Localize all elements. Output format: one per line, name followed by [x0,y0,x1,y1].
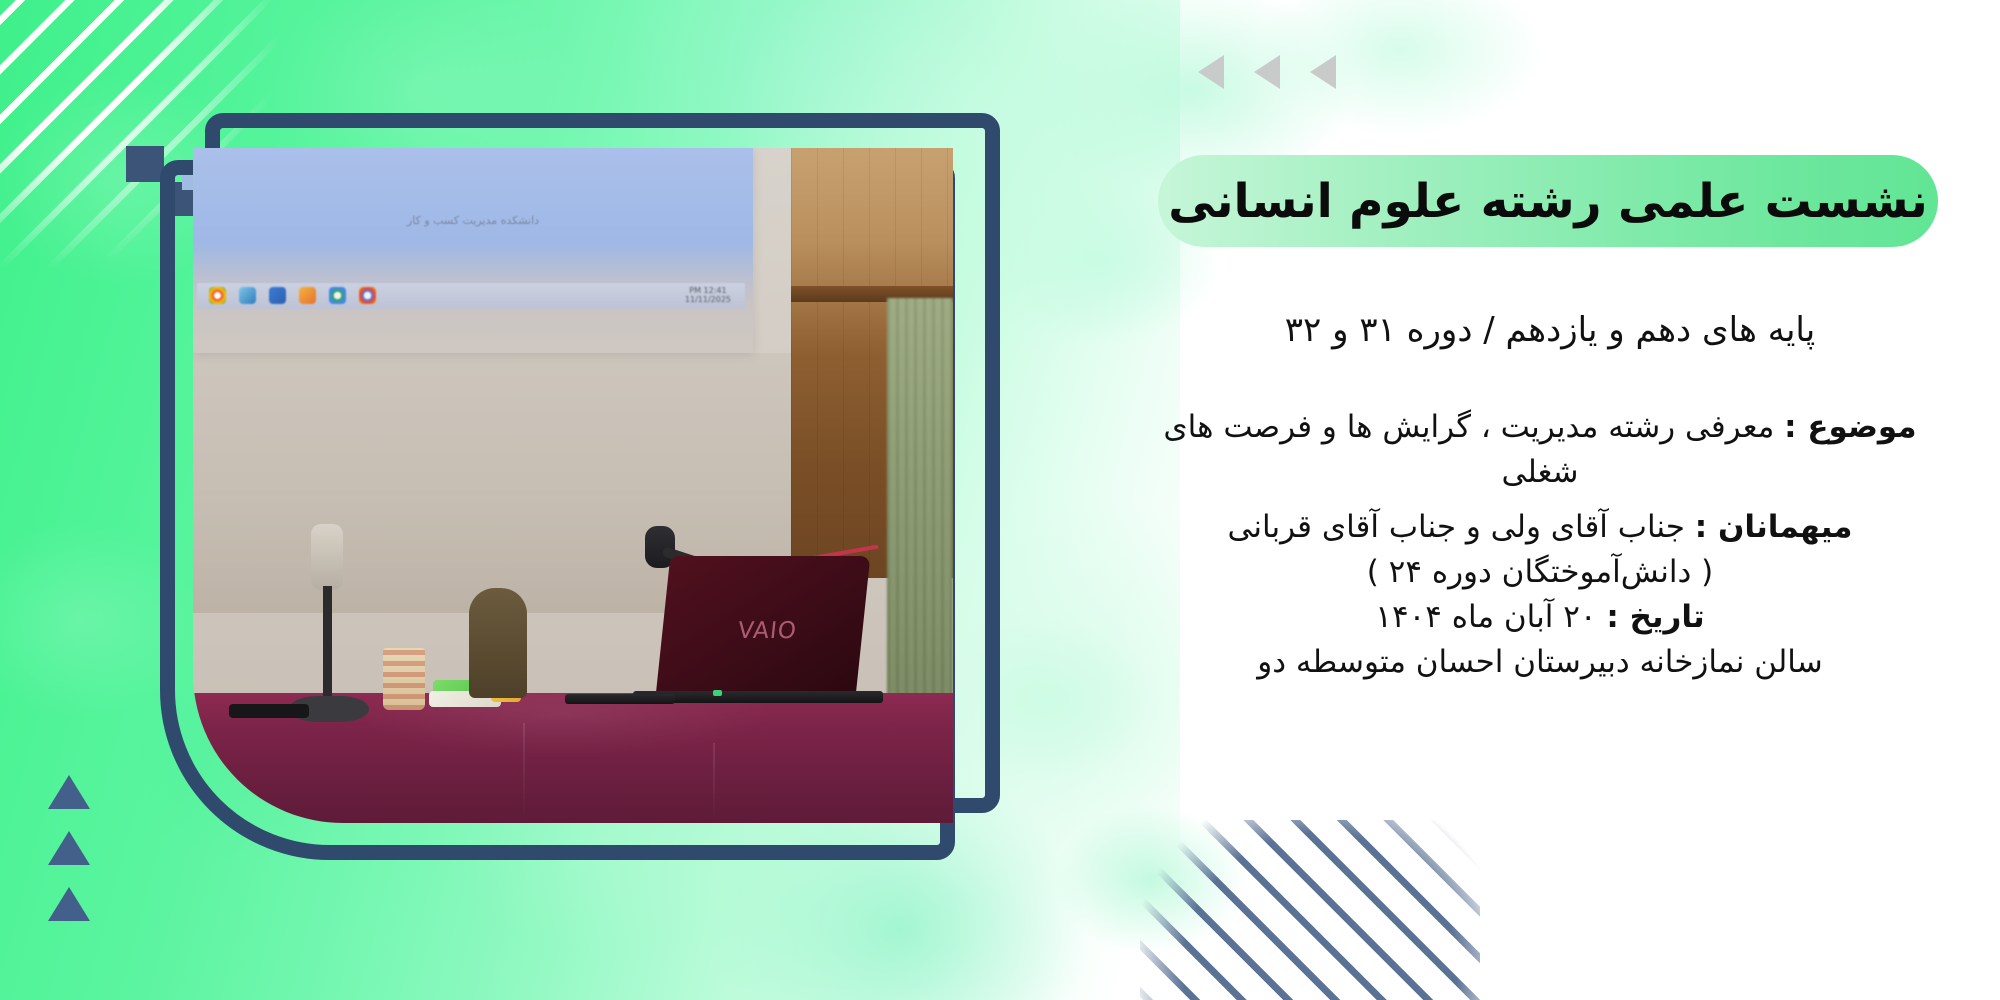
detail-value-guests: جناب آقای ولی و جناب آقای قربانی [1228,509,1695,545]
corner-square-navy-1 [126,146,164,182]
word-icon [269,287,286,304]
detail-line-venue: سالن نمازخانه دبیرستان احسان متوسطه دو [1130,640,1950,685]
folder-icon [299,287,316,304]
poster-canvas: دانشکده مدیریت کسب و کار 12:41 PM11/11/2… [0,0,2000,1000]
detail-value-date: ۲۰ آبان ماه ۱۴۰۴ [1375,599,1606,635]
photo-curtain [887,298,953,698]
edge-icon [239,287,256,304]
chrome-icon [359,287,376,304]
photo-laptop-secondary [565,694,675,704]
detail-value-venue: سالن نمازخانه دبیرستان احسان متوسطه دو [1257,644,1822,680]
event-photo: دانشکده مدیریت کسب و کار 12:41 PM11/11/2… [193,148,953,823]
detail-label-date: تاریخ : [1606,599,1704,635]
detail-label-topic: موضوع : [1784,409,1916,445]
page-title: نشست علمی رشته علوم انسانی [1168,178,1927,225]
detail-value-alumni: ( دانش‌آموختگان دوره ۲۴ ) [1367,554,1714,590]
up-triangle-group [48,775,90,921]
arrow-left-icon-1 [1310,55,1336,89]
photo-projector-screen: دانشکده مدیریت کسب و کار 12:41 PM11/11/2… [193,148,753,353]
title-banner: نشست علمی رشته علوم انسانی [1158,155,1938,247]
triangle-up-icon-1 [48,775,90,809]
arrow-triangle-group [1198,55,1336,89]
photo-cup-pattern [383,648,425,710]
detail-label-guests: میهمانان : [1695,509,1853,545]
photo-chair [469,588,527,698]
photo-table-fold-1 [523,723,525,823]
photo-phone [229,704,309,718]
detail-line-date: تاریخ : ۲۰ آبان ماه ۱۴۰۴ [1130,595,1950,640]
browser-icon [329,287,346,304]
arrow-left-icon-2 [1254,55,1280,89]
detail-line-alumni: ( دانش‌آموختگان دوره ۲۴ ) [1130,550,1950,595]
photo-taskbar-icons [209,287,376,304]
details-block: موضوع : معرفی رشته مدیریت ، گرایش ها و ف… [1130,405,1950,685]
chrome-icon-2 [209,287,226,304]
photo-taskbar-clock: 12:41 PM11/11/2025 [685,286,731,304]
subtitle-text: پایه های دهم و یازدهم / دوره ۳۱ و ۳۲ [1160,310,1940,350]
photo-slide-text: دانشکده مدیریت کسب و کار [407,214,539,227]
triangle-up-icon-3 [48,887,90,921]
photo-taskbar: 12:41 PM11/11/2025 [197,283,745,309]
arrow-left-icon-3 [1198,55,1224,89]
photo-table-fold-2 [713,743,715,823]
detail-line-topic: موضوع : معرفی رشته مدیریت ، گرایش ها و ف… [1130,405,1950,495]
detail-line-guests: میهمانان : جناب آقای ولی و جناب آقای قرب… [1130,505,1950,550]
triangle-up-icon-2 [48,831,90,865]
detail-value-topic: معرفی رشته مدیریت ، گرایش ها و فرصت های … [1163,409,1784,490]
photo-laptop-brand: VAIO [737,618,799,644]
